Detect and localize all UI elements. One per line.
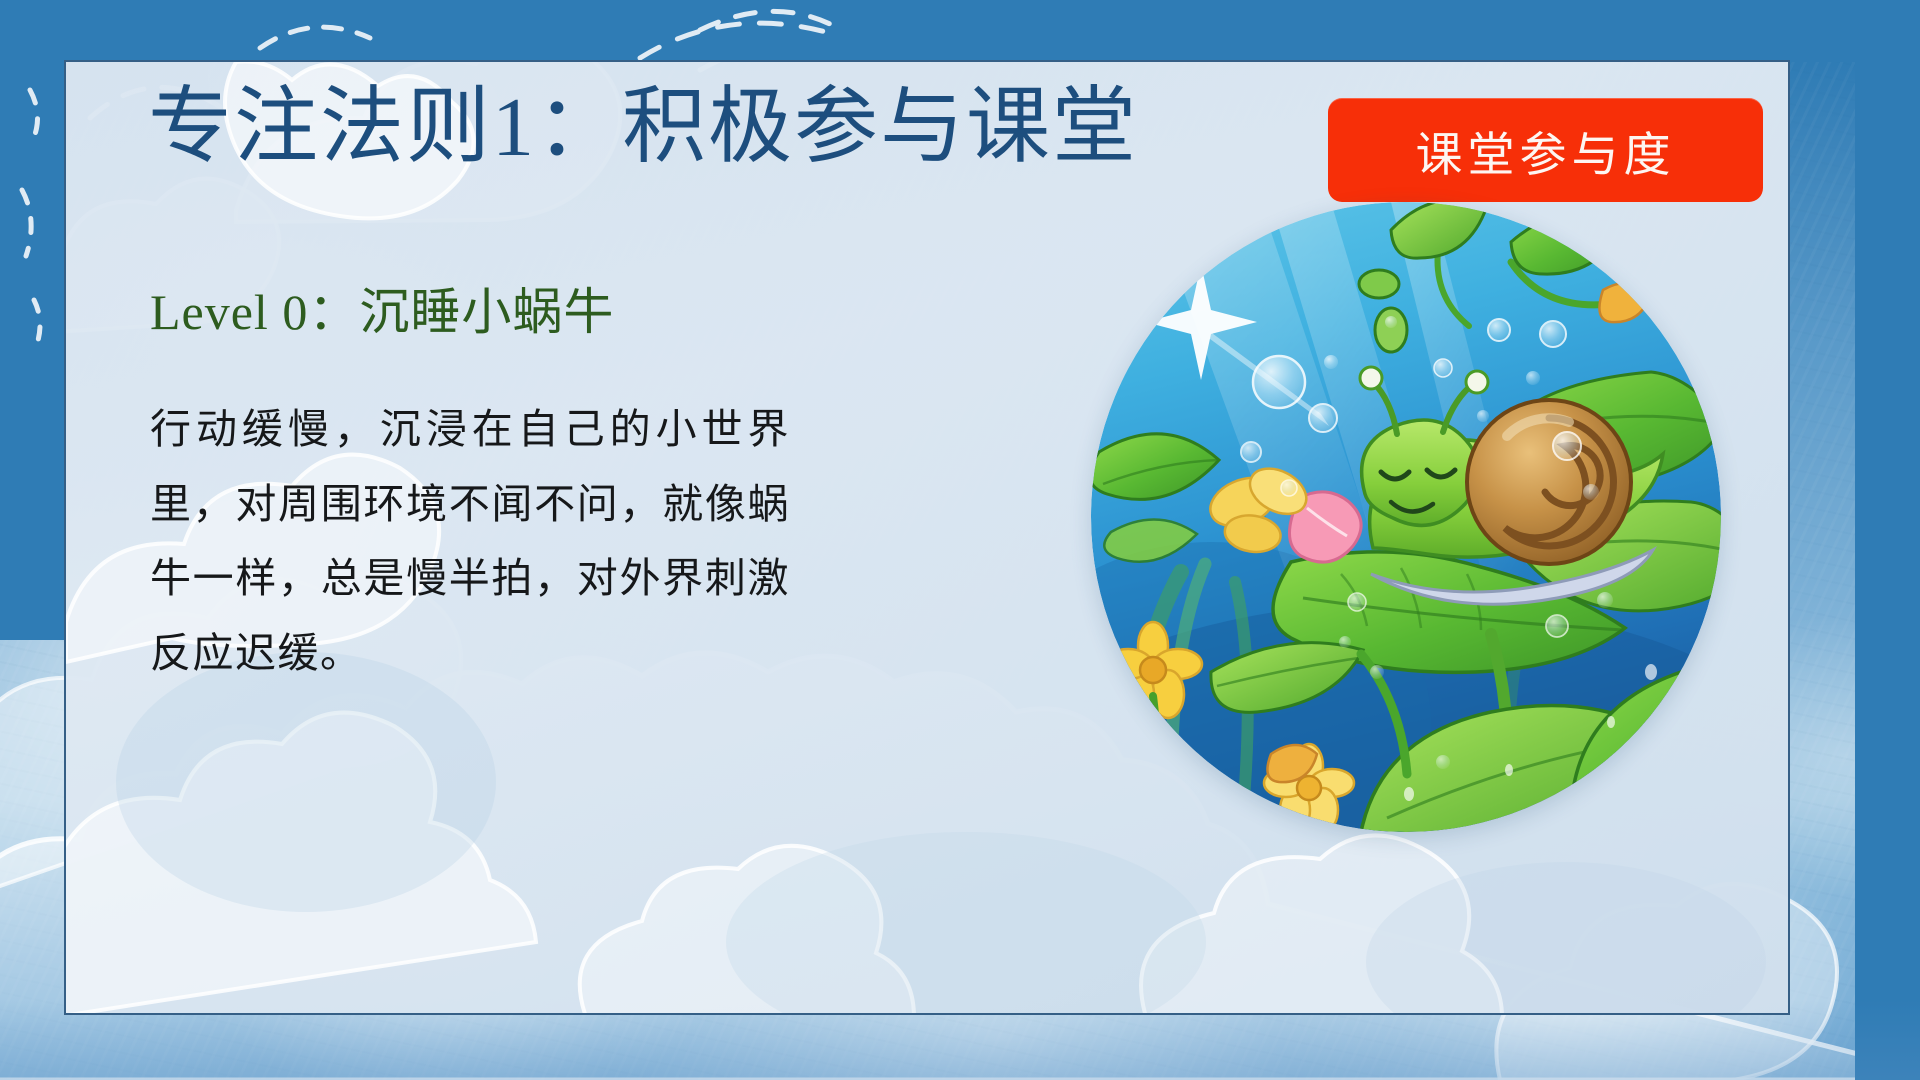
- snail-illustration-art: [1091, 202, 1721, 832]
- top-band-dashes: [0, 0, 1920, 62]
- level-description: 行动缓慢，沉浸在自己的小世界里，对周围环境不闻不问，就像蜗牛一样，总是慢半拍，对…: [150, 392, 790, 690]
- page-title: 专注法则1：积极参与课堂: [148, 84, 1138, 172]
- snail-illustration: [1091, 202, 1721, 832]
- status-badge[interactable]: 课堂参与度: [1328, 98, 1763, 202]
- content-panel: 专注法则1：积极参与课堂 课堂参与度 Level 0：沉睡小蜗牛 行动缓慢，沉浸…: [64, 60, 1790, 1015]
- left-band-dashes: [0, 0, 66, 640]
- level-heading: Level 0：沉睡小蜗牛: [150, 272, 940, 344]
- right-blue-band: [1855, 0, 1920, 1080]
- illustration-container: [1091, 202, 1721, 832]
- top-blue-band: [0, 0, 1920, 62]
- slide-canvas: 专注法则1：积极参与课堂 课堂参与度 Level 0：沉睡小蜗牛 行动缓慢，沉浸…: [0, 0, 1920, 1080]
- left-blue-band: [0, 0, 66, 640]
- text-column: Level 0：沉睡小蜗牛 行动缓慢，沉浸在自己的小世界里，对周围环境不闻不问，…: [150, 272, 940, 690]
- status-badge-label: 课堂参与度: [1416, 116, 1676, 185]
